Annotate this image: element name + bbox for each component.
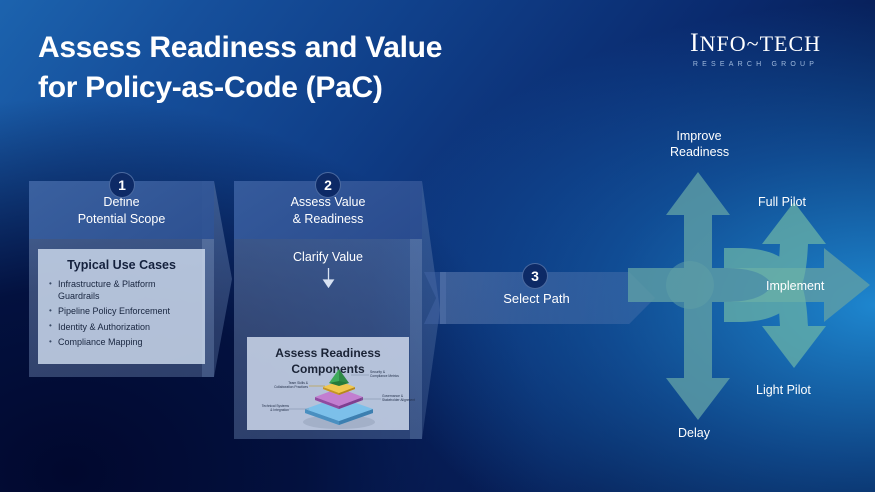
- title-line-2: for Policy-as-Code (PaC): [38, 68, 442, 108]
- pyramid-label-team-skills: Team Skills & Collaboration Practices: [260, 381, 308, 389]
- typical-use-cases-panel: Typical Use Cases Infrastructure & Platf…: [38, 249, 205, 364]
- outcome-label-light-pilot: Light Pilot: [756, 382, 811, 398]
- outcome-improve-line-1: Improve: [676, 129, 721, 143]
- logo-initial: I: [690, 28, 700, 57]
- list-item: Pipeline Policy Enforcement: [48, 306, 195, 318]
- assess-readiness-panel: Assess Readiness Components: [247, 337, 409, 430]
- slide-canvas: Assess Readiness and Value for Policy-as…: [0, 0, 875, 492]
- list-item: Identity & Authorization: [48, 322, 195, 334]
- page-title: Assess Readiness and Value for Policy-as…: [38, 28, 442, 108]
- step-card-2[interactable]: Assess Value & Readiness Clarify Value A…: [234, 181, 422, 439]
- outcome-label-implement: Implement: [766, 278, 824, 294]
- pyramid-label-technical: Technical Systems & Integration: [247, 404, 289, 412]
- outcome-arrow-fan: Improve Readiness Full Pilot Implement L…: [628, 120, 875, 450]
- step-card-1-body: Typical Use Cases Infrastructure & Platf…: [29, 239, 214, 364]
- pyramid-label-security-line-2: Compliance Metrics: [370, 374, 399, 378]
- arrow-hub: [666, 261, 714, 309]
- step-badge-3: 3: [522, 263, 548, 289]
- pyramid-label-governance: Governance & Stakeholder Alignment: [382, 394, 415, 402]
- outcome-label-delay: Delay: [678, 425, 710, 441]
- select-path-label: Select Path: [503, 291, 570, 306]
- down-arrow-icon: [234, 268, 422, 288]
- step-card-1[interactable]: Define Potential Scope Typical Use Cases…: [29, 181, 214, 377]
- outcome-label-improve-readiness: Improve Readiness: [670, 128, 728, 160]
- pyramid-label-governance-line-2: Stakeholder Alignment: [382, 398, 415, 402]
- use-cases-heading: Typical Use Cases: [48, 258, 195, 272]
- title-line-1: Assess Readiness and Value: [38, 28, 442, 68]
- pyramid-label-security: Security & Compliance Metrics: [370, 370, 399, 378]
- readiness-pyramid-diagram: Security & Compliance Metrics Team Skill…: [247, 367, 409, 429]
- info-tech-logo: INFO~TECH RESEARCH GROUP: [668, 30, 843, 68]
- outcome-improve-line-2: Readiness: [670, 145, 729, 159]
- logo-name: NFO~TECH: [700, 31, 821, 56]
- step-badge-2: 2: [315, 172, 341, 198]
- use-cases-list: Infrastructure & Platform Guardrails Pip…: [48, 279, 195, 349]
- list-item: Infrastructure & Platform Guardrails: [48, 279, 195, 303]
- clarify-value-label: Clarify Value: [234, 250, 422, 264]
- pyramid-label-technical-line-2: & Integration: [270, 408, 289, 412]
- select-path-banner[interactable]: Select Path: [440, 272, 655, 324]
- logo-tagline: RESEARCH GROUP: [668, 61, 843, 68]
- pyramid-label-team-skills-line-2: Collaboration Practices: [274, 385, 308, 389]
- pyramid-level-1: [329, 369, 349, 386]
- logo-wordmark: INFO~TECH: [668, 30, 843, 56]
- list-item: Compliance Mapping: [48, 337, 195, 349]
- step-1-title-line-2: Potential Scope: [78, 211, 166, 228]
- step-2-title-line-2: & Readiness: [293, 211, 364, 228]
- outcome-label-full-pilot: Full Pilot: [758, 194, 806, 210]
- step-badge-1: 1: [109, 172, 135, 198]
- fan-arrows-svg: [628, 120, 875, 450]
- readiness-heading-line-1: Assess Readiness: [275, 346, 380, 360]
